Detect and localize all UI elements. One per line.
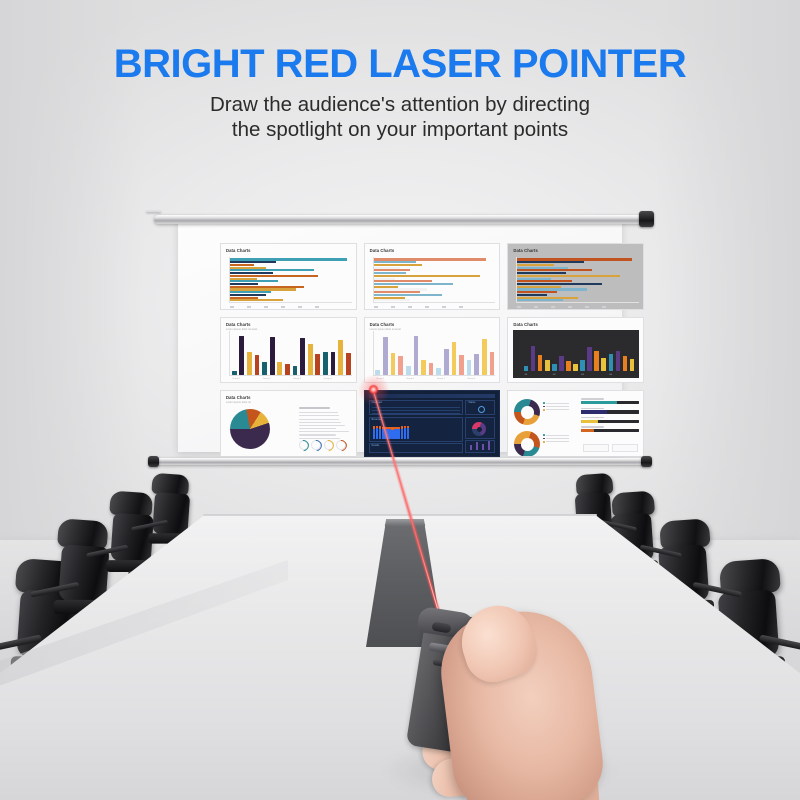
chart-bar xyxy=(376,428,379,439)
product-marketing-image: BRIGHT RED LASER POINTER Draw the audien… xyxy=(0,0,800,800)
gauge-circle xyxy=(324,440,334,450)
chart-x-label: Group 2 xyxy=(407,378,415,380)
chart-bar xyxy=(623,356,627,371)
chart-bar xyxy=(285,364,290,376)
chart-bar xyxy=(559,356,563,371)
sparkline-bar xyxy=(476,442,478,450)
chart-bar xyxy=(545,360,549,371)
slide-2: Data Charts xyxy=(364,243,501,310)
chart-bar xyxy=(397,427,400,429)
screen-roller-bar xyxy=(154,215,646,224)
chart-bar xyxy=(538,355,542,372)
chart-y-axis xyxy=(516,257,517,303)
chart-bar xyxy=(407,426,410,428)
chart-x-label: Group 2 xyxy=(263,378,271,380)
chart-x-label: Group 3 xyxy=(437,378,445,380)
sparkline-bar xyxy=(488,441,490,450)
chart-bar xyxy=(262,362,267,375)
horizontal-bar-chart xyxy=(517,258,638,302)
chart-x-axis xyxy=(229,375,352,376)
text-line xyxy=(299,431,349,432)
progress-bar-track xyxy=(581,429,639,432)
text-line xyxy=(299,419,340,420)
dashboard-gauge-panel: Status xyxy=(465,400,495,415)
chart-bar xyxy=(270,337,275,375)
progress-bar-fill xyxy=(581,410,607,413)
dark-chart-area: G1G2G3G4 xyxy=(513,330,639,379)
screen-canvas: Data ChartsData ChartsData ChartsData Ch… xyxy=(178,220,622,452)
chart-bar xyxy=(444,349,449,376)
gauge-row xyxy=(299,440,351,450)
chair-backrest xyxy=(110,513,154,564)
chart-bar xyxy=(482,339,487,376)
panel-label: Details xyxy=(370,444,463,448)
legend-item xyxy=(543,406,569,408)
gauge-circle xyxy=(299,440,309,450)
legend-item xyxy=(543,441,569,443)
chart-bar xyxy=(338,340,343,376)
chart-y-axis xyxy=(373,331,374,377)
chart-bar xyxy=(490,352,495,375)
chart-bar xyxy=(407,428,410,439)
chart-x-tick xyxy=(517,306,521,307)
donut-chart xyxy=(514,399,540,425)
chart-bar xyxy=(331,352,336,375)
page-title: BRIGHT RED LASER POINTER xyxy=(0,42,800,87)
chart-bar xyxy=(404,428,407,439)
dashboard-footer-panel: Details xyxy=(369,443,464,453)
chart-x-tick xyxy=(315,306,319,307)
slide-body-text xyxy=(299,407,351,440)
chart-bar xyxy=(580,360,584,371)
chart-x-label: G2 xyxy=(553,374,556,376)
text-line xyxy=(299,428,336,429)
slide-subtitle: Lorem ipsum dolor sit xyxy=(226,401,351,405)
progress-bar-label xyxy=(581,426,604,427)
progress-bar-fill xyxy=(581,429,594,432)
donut-legend xyxy=(543,434,569,444)
hand-holding-remote: D xyxy=(392,600,622,800)
text-line xyxy=(299,438,340,439)
chart-x-tick xyxy=(459,306,463,307)
chart-bar xyxy=(452,342,457,375)
chart-x-label: G3 xyxy=(581,374,584,376)
chart-bar xyxy=(406,366,411,375)
chart-x-tick xyxy=(391,306,395,307)
slide-grid: Data ChartsData ChartsData ChartsData Ch… xyxy=(220,243,644,457)
chart-x-label: Group 4 xyxy=(324,378,332,380)
chart-x-axis xyxy=(229,302,352,303)
vertical-bar-chart: Group 1Group 2Group 3Group 4 xyxy=(230,331,352,376)
chart-bar xyxy=(346,353,351,375)
chart-bar xyxy=(436,368,441,375)
chart-bar xyxy=(255,355,260,376)
progress-bar-fill xyxy=(581,401,617,404)
page-subtitle: Draw the audience's attention by directi… xyxy=(0,92,800,142)
donut-legend xyxy=(543,402,569,412)
text-heading xyxy=(299,407,330,409)
chart-x-tick xyxy=(298,306,302,307)
progress-bar-track xyxy=(581,401,639,404)
chart-bar xyxy=(552,364,556,371)
slide-title: Data Charts xyxy=(513,248,638,254)
chart-x-label: Group 1 xyxy=(232,378,240,380)
chart-x-axis xyxy=(516,302,639,303)
chart-bar xyxy=(401,429,404,439)
slide-7: Data ChartsLorem ipsum dolor sit xyxy=(220,390,357,457)
chart-bar xyxy=(573,364,577,371)
chart-x-tick xyxy=(264,306,268,307)
chart-bar xyxy=(373,426,376,429)
chart-x-tick xyxy=(408,306,412,307)
progress-bar-track xyxy=(581,410,639,413)
text-line xyxy=(299,425,345,426)
slide-title: Data Charts xyxy=(226,248,351,254)
legend-item xyxy=(543,409,569,411)
chart-x-tick xyxy=(568,306,572,307)
sparkline-bar xyxy=(470,445,472,450)
chart-x-label: Group 3 xyxy=(293,378,301,380)
radial-gauge xyxy=(472,422,486,436)
gauge-circle xyxy=(311,440,321,450)
chart-bar xyxy=(467,360,472,375)
chart-bar xyxy=(383,337,388,375)
chart-x-axis xyxy=(373,375,496,376)
text-line xyxy=(299,415,339,416)
slide-5: Data ChartsLorem ipsum dolor sit ametGro… xyxy=(364,317,501,384)
chart-y-axis xyxy=(229,331,230,377)
chart-bar xyxy=(247,352,252,375)
chart-bar xyxy=(293,366,298,376)
progress-bar-label xyxy=(581,398,604,399)
legend-item xyxy=(543,402,569,404)
slide-1: Data Charts xyxy=(220,243,357,310)
chart-bar xyxy=(601,358,605,371)
chart-bar xyxy=(421,360,426,375)
panel-label: Status xyxy=(466,401,494,405)
chart-x-axis xyxy=(373,302,496,303)
chart-bar xyxy=(474,354,479,375)
dashboard-donut-panel xyxy=(465,417,495,439)
text-line xyxy=(299,412,338,413)
vertical-bar-chart: Group 1Group 2Group 3Group 4 xyxy=(374,331,496,376)
progress-bar-fill xyxy=(581,420,598,423)
chart-bar xyxy=(391,353,396,375)
chair-backrest xyxy=(152,492,190,536)
text-line xyxy=(299,434,337,435)
slide-9 xyxy=(507,390,644,457)
subtitle-line-1: Draw the audience's attention by directi… xyxy=(0,92,800,117)
roller-end-cap-right xyxy=(639,211,654,227)
donut-chart xyxy=(514,431,540,457)
chart-y-axis xyxy=(229,257,230,303)
chart-x-tick xyxy=(442,306,446,307)
chart-bar xyxy=(429,363,434,376)
chart-x-tick xyxy=(247,306,251,307)
weight-bar-cap-left xyxy=(148,456,159,467)
gauge-circle xyxy=(336,440,346,450)
progress-bar-list xyxy=(581,398,639,435)
chart-bar xyxy=(397,429,400,439)
legend-item xyxy=(543,438,569,440)
sparkline-bar xyxy=(482,444,484,450)
pull-down-projector-screen: Data ChartsData ChartsData ChartsData Ch… xyxy=(146,206,654,468)
slide-6: Data ChartsG1G2G3G4 xyxy=(507,317,644,384)
chart-y-axis xyxy=(373,257,374,303)
subtitle-line-2: the spotlight on your important points xyxy=(0,117,800,142)
chart-x-tick xyxy=(425,306,429,307)
horizontal-bar-chart xyxy=(230,258,351,302)
legend-item xyxy=(543,434,569,436)
chart-x-tick xyxy=(534,306,538,307)
chart-x-tick xyxy=(585,306,589,307)
chart-bar xyxy=(531,346,535,372)
weight-bar-cap-right xyxy=(641,456,652,467)
chart-x-tick xyxy=(551,306,555,307)
progress-bar-track xyxy=(581,420,639,423)
text-line xyxy=(299,422,341,423)
progress-bar-label xyxy=(581,417,604,418)
summary-card xyxy=(612,444,638,452)
chart-x-tick xyxy=(602,306,606,307)
chart-bar xyxy=(587,347,591,372)
slide-title: Data Charts xyxy=(370,248,495,254)
chart-bar xyxy=(401,426,404,429)
slide-3: Data Charts xyxy=(507,243,644,310)
chart-bar xyxy=(414,336,419,375)
chart-x-tick xyxy=(230,306,234,307)
laser-dot xyxy=(369,385,378,394)
slide-title: Data Charts xyxy=(513,322,638,328)
progress-bar-label xyxy=(581,408,604,409)
chart-bar xyxy=(373,429,376,439)
chart-bar xyxy=(609,354,613,372)
chart-x-label: G1 xyxy=(525,374,528,376)
chart-x-label: Group 4 xyxy=(467,378,475,380)
dashboard-spark-panel xyxy=(465,440,495,453)
chart-x-label: G4 xyxy=(609,374,612,376)
chart-bar xyxy=(566,361,570,371)
chart-bar xyxy=(398,356,403,376)
chart-bar xyxy=(524,366,528,371)
summary-card xyxy=(583,444,609,452)
chart-bar xyxy=(616,351,620,371)
vertical-bar-chart: G1G2G3G4 xyxy=(522,343,635,372)
chart-bar xyxy=(300,338,305,376)
horizontal-bar-chart xyxy=(374,258,495,302)
roller-end-cap-left xyxy=(146,211,161,212)
chart-bar xyxy=(308,344,313,375)
chart-bar xyxy=(459,355,464,376)
chart-x-tick xyxy=(374,306,378,307)
screen-weight-bar xyxy=(154,458,646,465)
chart-x-tick xyxy=(281,306,285,307)
chart-bar xyxy=(630,359,634,372)
chart-bar xyxy=(277,362,282,375)
chart-bar xyxy=(594,351,598,372)
chart-bar xyxy=(239,336,244,375)
pie-chart xyxy=(230,409,270,449)
chart-bar xyxy=(315,354,320,375)
chart-bar xyxy=(323,352,328,375)
slide-4: Data ChartsLorem ipsum dolor sit ametGro… xyxy=(220,317,357,384)
